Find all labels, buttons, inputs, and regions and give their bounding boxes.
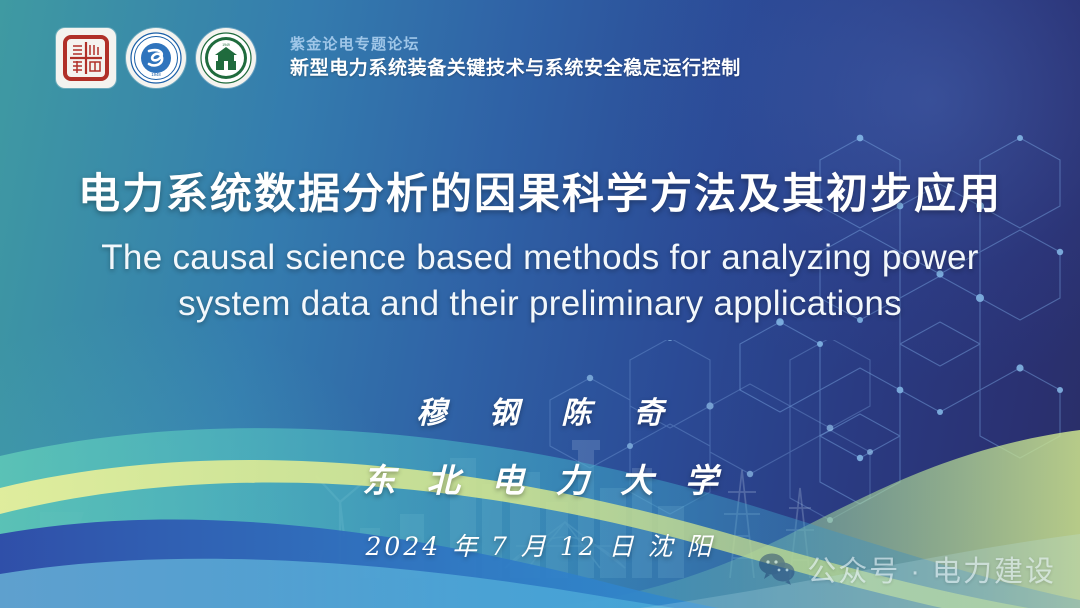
author-names: 穆 钢 陈 奇 (0, 388, 1080, 432)
svg-text:1949: 1949 (222, 43, 230, 47)
slide-header: 1948 1949 紫金论电专题论 (0, 0, 1080, 116)
author-block: 穆 钢 陈 奇 东 北 电 力 大 学 (0, 388, 1080, 502)
wechat-icon (757, 552, 797, 586)
title-chinese: 电力系统数据分析的因果科学方法及其初步应用 (0, 160, 1080, 221)
university-crest-green-icon: 1949 (199, 31, 253, 85)
title-english: The causal science based methods for ana… (0, 235, 1080, 327)
university-emblem-green: 1949 (196, 28, 256, 88)
author-affiliation: 东 北 电 力 大 学 (0, 454, 1080, 502)
logo-group: 1948 1949 (56, 28, 256, 88)
svg-text:1948: 1948 (151, 72, 161, 77)
watermark-text: 公众号 · 电力建设 (807, 548, 1056, 590)
header-text-block: 紫金论电专题论坛 新型电力系统装备关键技术与系统安全稳定运行控制 (290, 36, 741, 80)
seal-logo-zijin (56, 28, 116, 88)
seal-stamp-icon (62, 34, 110, 82)
forum-theme: 新型电力系统装备关键技术与系统安全稳定运行控制 (290, 58, 741, 80)
title-english-line-1: The causal science based methods for ana… (48, 235, 1032, 281)
university-crest-blue-icon: 1948 (129, 31, 183, 85)
title-english-line-2: system data and their preliminary applic… (48, 281, 1032, 327)
title-block: 电力系统数据分析的因果科学方法及其初步应用 The causal science… (0, 160, 1080, 327)
forum-label: 紫金论电专题论坛 (290, 36, 741, 53)
title-slide: 1948 1949 紫金论电专题论 (0, 0, 1080, 608)
wechat-watermark: 公众号 · 电力建设 (757, 548, 1056, 590)
university-emblem-blue: 1948 (126, 28, 186, 88)
